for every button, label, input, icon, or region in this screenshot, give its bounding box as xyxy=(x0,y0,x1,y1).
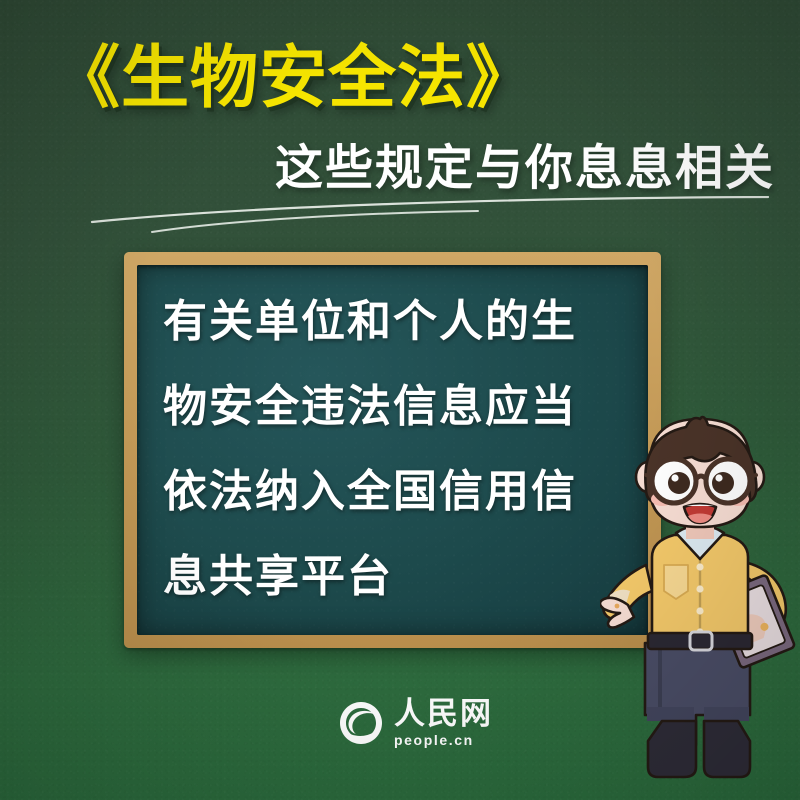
logo-chinese-name: 人民网 xyxy=(394,698,493,729)
page-title: 《生物安全法》 xyxy=(52,44,535,112)
blackboard-line: 息共享平台 xyxy=(163,534,638,619)
blackboard-line: 依法纳入全国信用信 xyxy=(163,449,638,534)
blackboard-line: 有关单位和个人的生 xyxy=(163,279,638,364)
decorative-swoosh-line-top xyxy=(90,196,770,226)
blackboard-text-block: 有关单位和个人的生 物安全违法信息应当 依法纳入全国信用信 息共享平台 xyxy=(163,279,638,619)
decorative-swoosh-line-bottom xyxy=(150,210,480,236)
mascot-shoe-left xyxy=(648,721,696,777)
poster-canvas: 《生物安全法》 这些规定与你息息相关 有关单位和个人的生 物安全违法信息应当 依… xyxy=(0,0,800,800)
logo-text-block: 人民网 people.cn xyxy=(394,698,493,747)
people-cn-globe-icon xyxy=(338,700,384,746)
student-boy-mascot xyxy=(600,415,800,800)
blackboard-line: 物安全违法信息应当 xyxy=(163,364,638,449)
mascot-shoe-right xyxy=(704,721,750,777)
mascot-belt xyxy=(648,633,752,649)
people-cn-logo: 人民网 people.cn xyxy=(338,698,493,747)
logo-english-name: people.cn xyxy=(394,733,493,747)
blackboard-surface: 有关单位和个人的生 物安全违法信息应当 依法纳入全国信用信 息共享平台 xyxy=(137,265,648,635)
page-subtitle: 这些规定与你息息相关 xyxy=(275,145,775,193)
blackboard: 有关单位和个人的生 物安全违法信息应当 依法纳入全国信用信 息共享平台 xyxy=(124,252,661,648)
mascot-shirt-pocket xyxy=(664,565,688,599)
